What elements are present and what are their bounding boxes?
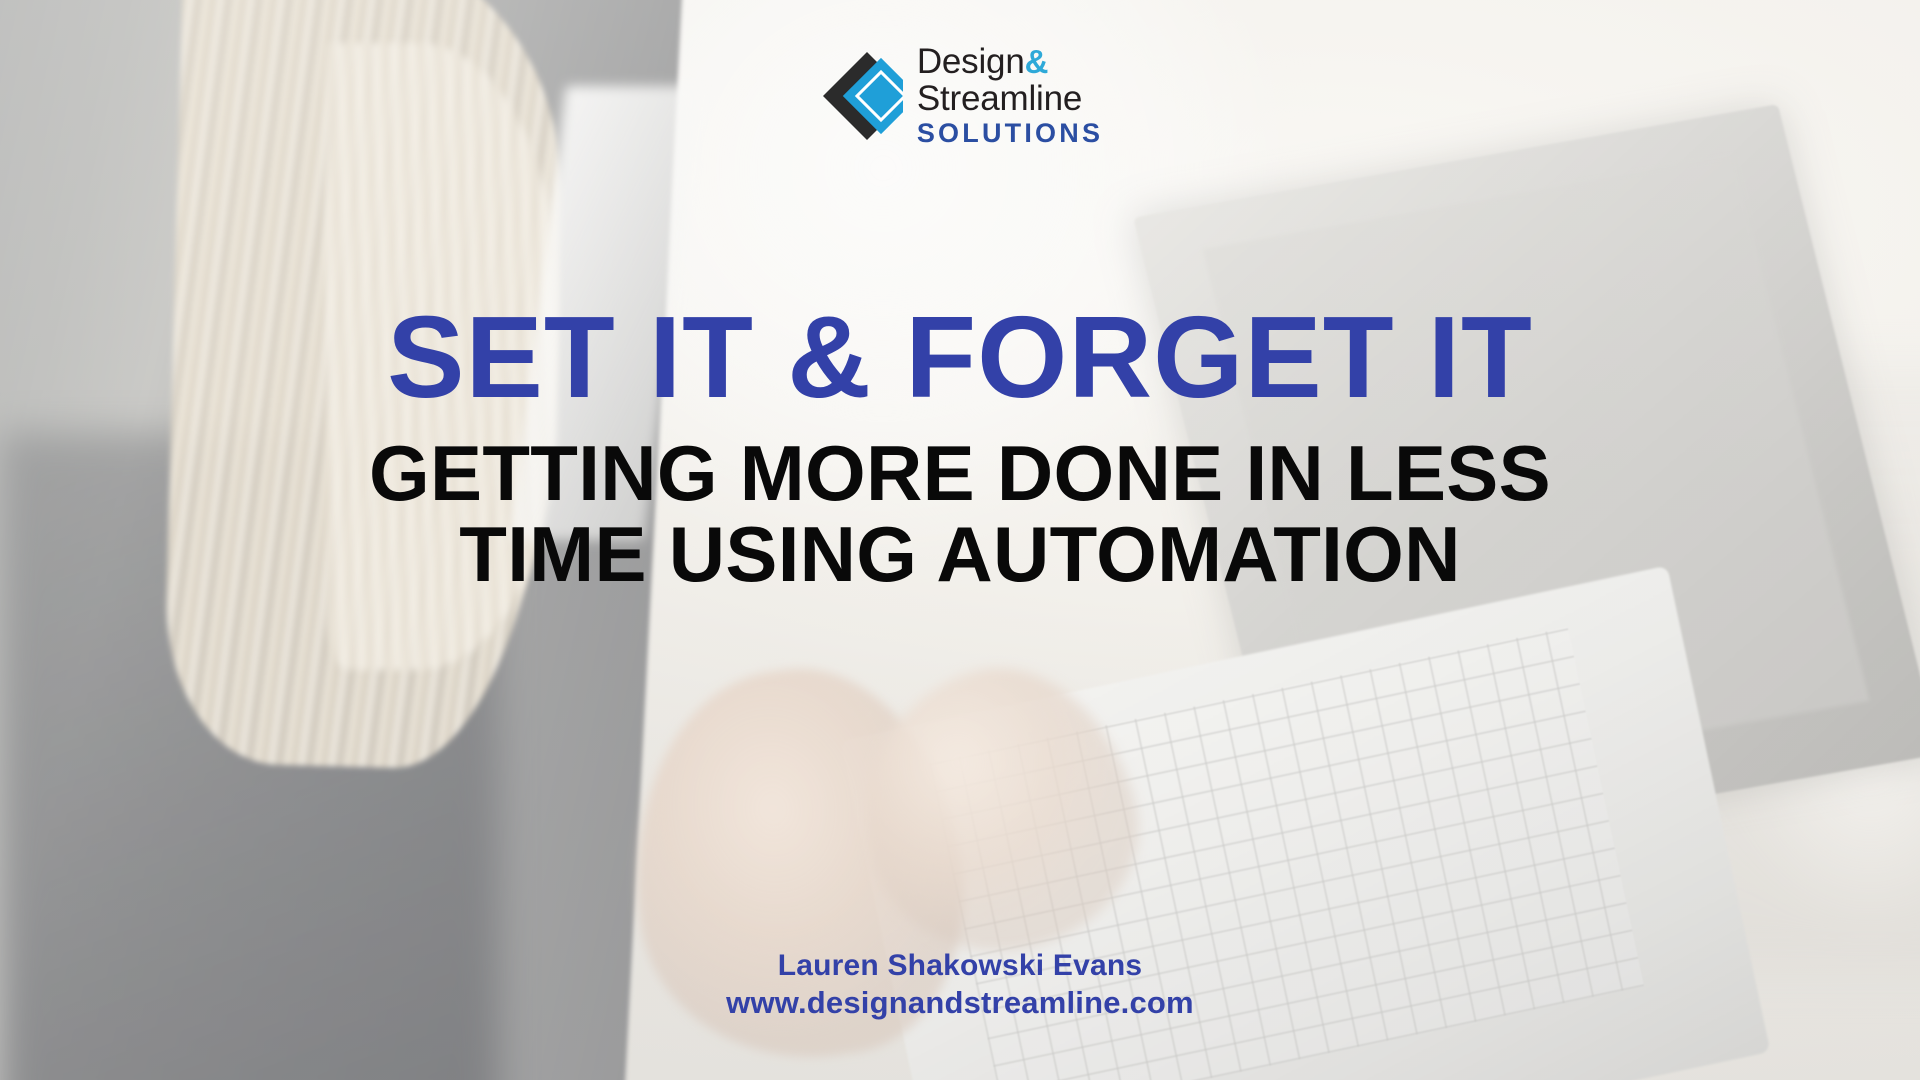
slide-content: Design& Streamline SOLUTIONS SET IT & FO… [0,0,1920,1080]
subheadline-line-2: TIME USING AUTOMATION [0,514,1920,595]
chevron-diamond-logo-mark [817,48,903,144]
slide-subheadline: GETTING MORE DONE IN LESS TIME USING AUT… [0,433,1920,595]
brand-ampersand: & [1025,43,1049,80]
presenter-name: Lauren Shakowski Evans [0,948,1920,985]
website-url[interactable]: www.designandstreamline.com [0,984,1920,1022]
slide-headline: SET IT & FORGET IT [0,299,1920,415]
brand-logo: Design& Streamline SOLUTIONS [817,44,1103,147]
subheadline-line-1: GETTING MORE DONE IN LESS [0,433,1920,514]
brand-wordmark-line-3: SOLUTIONS [917,120,1103,147]
title-block: SET IT & FORGET IT GETTING MORE DONE IN … [0,299,1920,595]
brand-word-design: Design [917,42,1025,81]
brand-wordmark-line-2: Streamline [917,81,1103,116]
brand-wordmark: Design& Streamline SOLUTIONS [917,44,1103,147]
brand-wordmark-line-1: Design& [917,44,1103,79]
slide-footer: Lauren Shakowski Evans www.designandstre… [0,948,1920,1022]
presentation-slide: Design& Streamline SOLUTIONS SET IT & FO… [0,0,1920,1080]
